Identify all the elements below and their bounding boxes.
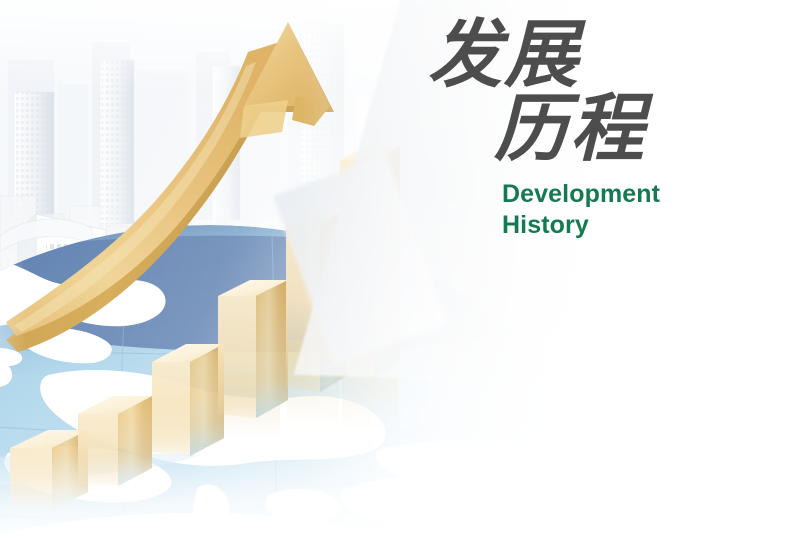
- bar-1: [10, 430, 88, 510]
- title-chinese-line-1: 发展: [428, 22, 718, 92]
- title-english-line-1: Development: [502, 179, 718, 210]
- title-chinese-line-2: 历程: [494, 96, 718, 166]
- title-english-line-2: History: [502, 210, 718, 241]
- growth-arrow: [0, 0, 420, 360]
- bar-3: [152, 344, 224, 456]
- development-history-banner: 发展 历程 Development History: [0, 0, 800, 540]
- bar-2: [78, 396, 152, 486]
- title-block: 发展 历程 Development History: [428, 22, 718, 240]
